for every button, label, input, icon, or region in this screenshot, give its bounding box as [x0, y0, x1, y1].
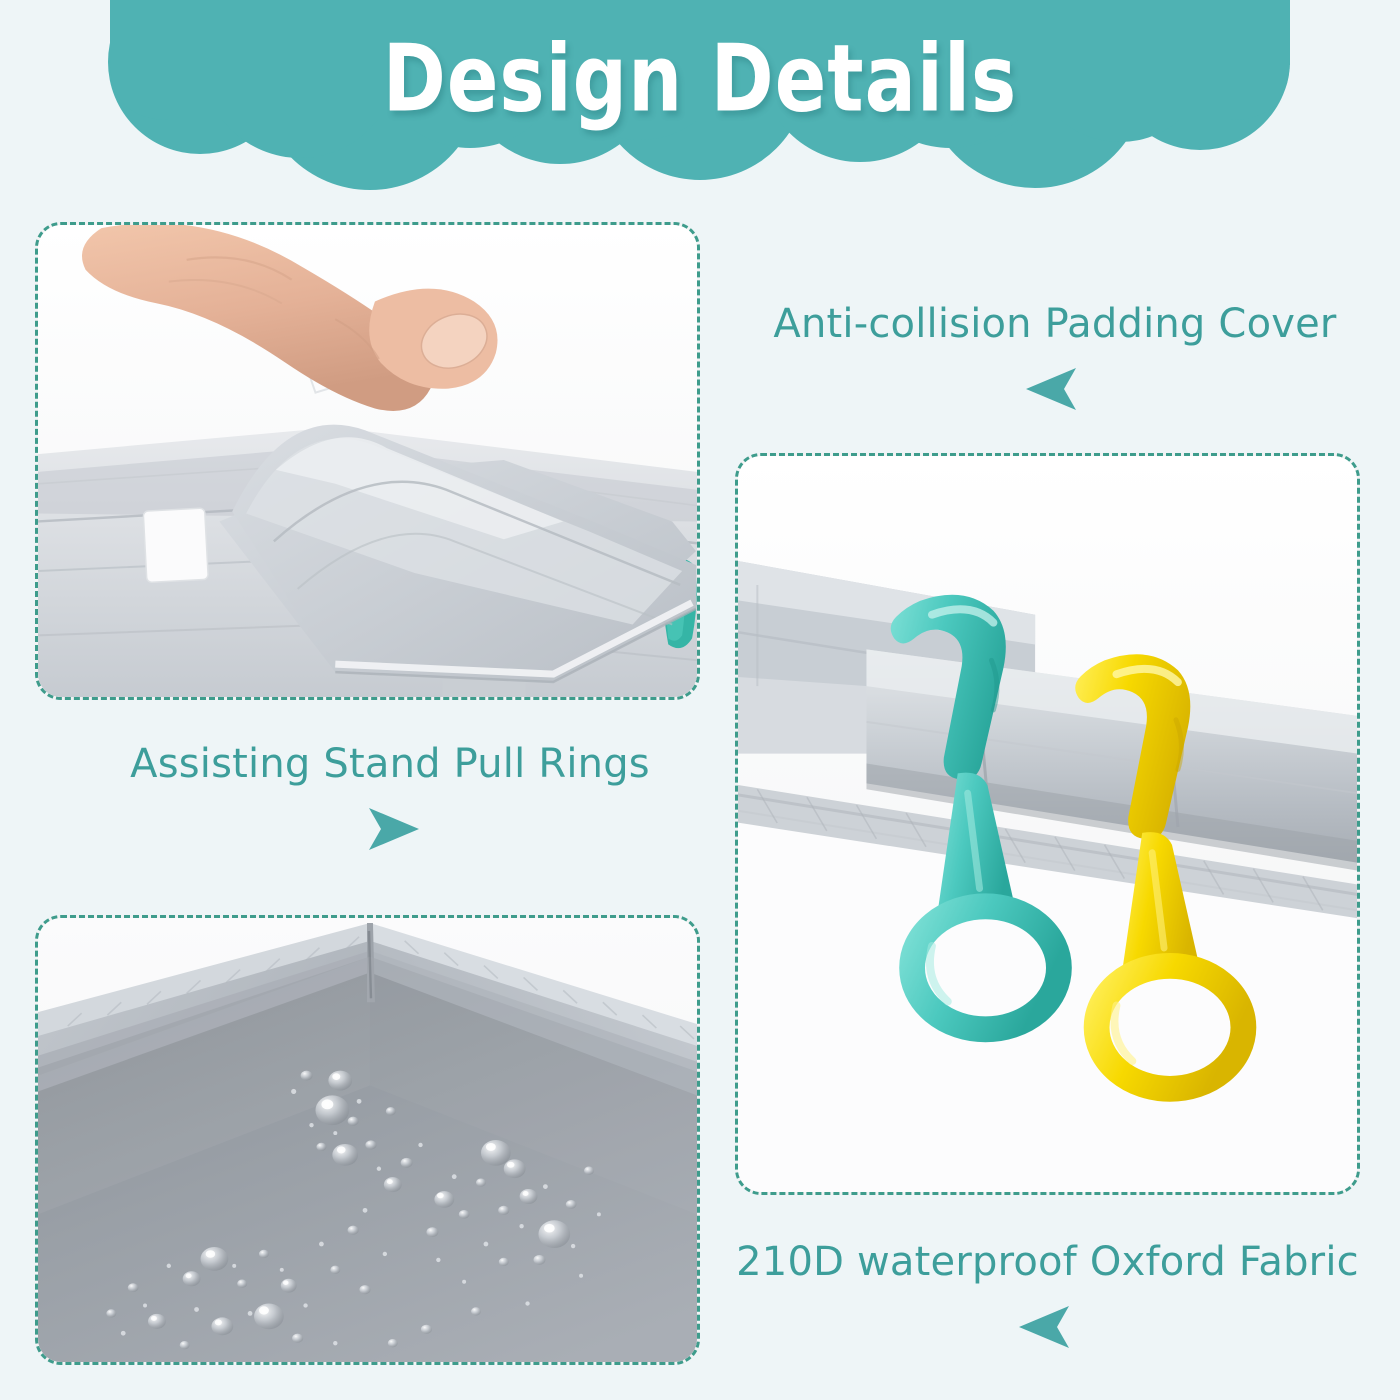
label-oxford-fabric-text: 210D waterproof Oxford Fabric [735, 1240, 1360, 1284]
photo-pull-rings [738, 456, 1357, 1192]
photo-padding-cover [38, 225, 697, 697]
page-title: Design Details [0, 18, 1400, 140]
arrow-left-icon [735, 1304, 1360, 1350]
photo-oxford-fabric [38, 918, 697, 1362]
label-pull-rings: Assisting Stand Pull Rings [110, 742, 670, 852]
arrow-right-icon [110, 806, 670, 852]
arrow-left-icon [760, 366, 1350, 412]
header-cloud-banner: Design Details [0, 0, 1400, 200]
label-pull-rings-text: Assisting Stand Pull Rings [110, 742, 670, 786]
label-oxford-fabric: 210D waterproof Oxford Fabric [735, 1240, 1360, 1350]
panel-padding-cover [35, 222, 700, 700]
label-padding-cover: Anti-collision Padding Cover [760, 302, 1350, 412]
panel-oxford-fabric [35, 915, 700, 1365]
label-padding-cover-text: Anti-collision Padding Cover [760, 302, 1350, 346]
panel-pull-rings [735, 453, 1360, 1195]
